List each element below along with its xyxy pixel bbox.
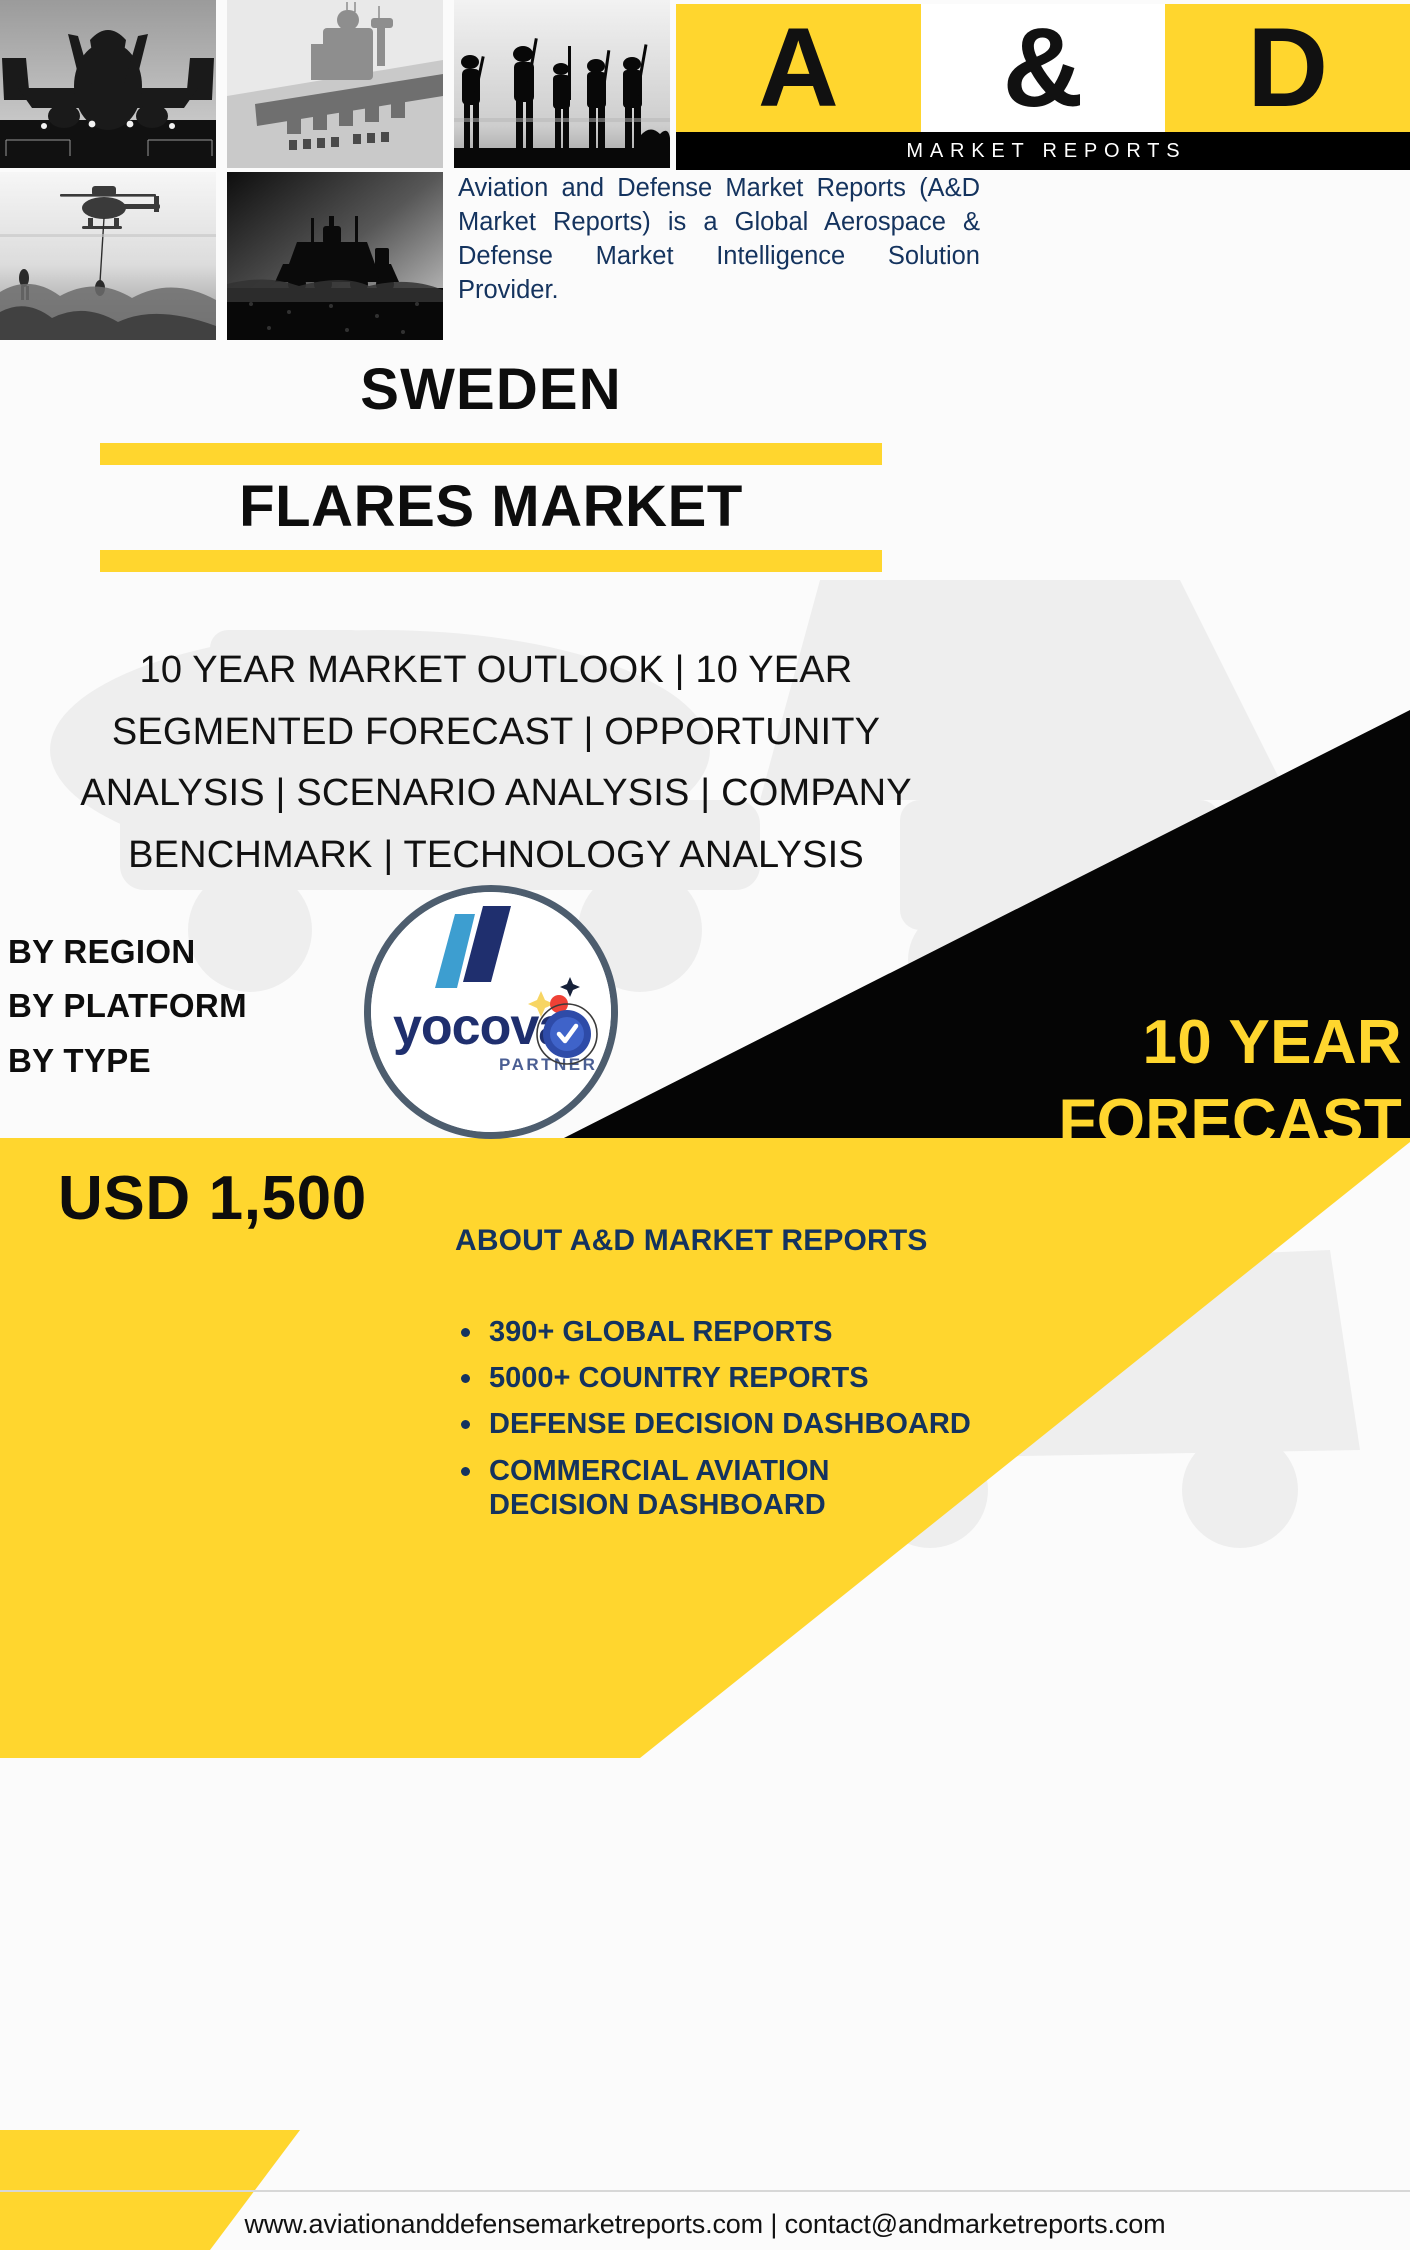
fighter-jet-on-carrier-photo: [0, 0, 216, 168]
logo-tagline: MARKET REPORTS: [676, 132, 1410, 170]
title-rule-top: [100, 443, 882, 465]
title-rule-bottom: [100, 550, 882, 572]
list-item: 5000+ COUNTRY REPORTS: [455, 1361, 975, 1395]
about-bullet-text: DEFENSE DECISION DASHBOARD: [489, 1408, 971, 1440]
svg-text:yocova: yocova: [393, 998, 568, 1056]
segmentation-list: BY REGION BY PLATFORM BY TYPE: [8, 925, 247, 1088]
segmentation-item-platform: BY PLATFORM: [8, 979, 247, 1033]
armored-vehicle-photo: [227, 172, 443, 340]
footer-contact: www.aviationanddefensemarketreports.com …: [0, 2209, 1410, 2240]
soldiers-silhouette-photo: [454, 0, 670, 168]
about-panel: ABOUT A&D MARKET REPORTS 390+ GLOBAL REP…: [455, 1224, 975, 1534]
report-title-block: SWEDEN FLARES MARKET: [0, 360, 982, 584]
forecast-line-2: FORECAST: [762, 1082, 1402, 1161]
about-heading: ABOUT A&D MARKET REPORTS: [455, 1224, 975, 1258]
company-logo: A & D MARKET REPORTS: [676, 4, 1410, 170]
bullet-dot-icon: [461, 1420, 470, 1429]
company-intro-paragraph: Aviation and Defense Market Reports (A&D…: [458, 172, 980, 308]
report-country: SWEDEN: [0, 360, 982, 431]
about-bullet-text: 5000+ COUNTRY REPORTS: [489, 1362, 869, 1394]
yocova-partner-badge: yocova PARTNER: [364, 885, 618, 1139]
footer-divider: [0, 2190, 1410, 2192]
naval-warship-photo: [227, 0, 443, 168]
segmentation-item-type: BY TYPE: [8, 1034, 247, 1088]
logo-letter-d: D: [1165, 4, 1410, 132]
logo-letter-a: A: [676, 4, 921, 132]
report-market-name: FLARES MARKET: [0, 477, 982, 538]
list-item: 390+ GLOBAL REPORTS: [455, 1315, 975, 1349]
helicopter-rappel-photo: [0, 172, 216, 340]
about-bullet-text: 390+ GLOBAL REPORTS: [489, 1316, 833, 1348]
about-bullet-list: 390+ GLOBAL REPORTS 5000+ COUNTRY REPORT…: [455, 1315, 975, 1522]
list-item: DEFENSE DECISION DASHBOARD: [455, 1407, 975, 1441]
ten-year-forecast-callout: 10 YEAR FORECAST: [762, 1003, 1402, 1162]
list-item: COMMERCIAL AVIATION DECISION DASHBOARD: [455, 1454, 975, 1522]
bullet-dot-icon: [461, 1467, 470, 1476]
bullet-dot-icon: [461, 1328, 470, 1337]
about-heading-underline: [455, 1267, 960, 1273]
report-scope-subtitle: 10 YEAR MARKET OUTLOOK | 10 YEAR SEGMENT…: [20, 640, 972, 886]
about-bullet-text: COMMERCIAL AVIATION DECISION DASHBOARD: [489, 1455, 829, 1521]
bullet-dot-icon: [461, 1374, 470, 1383]
price-value: USD 1,500: [58, 1163, 367, 1234]
segmentation-item-region: BY REGION: [8, 925, 247, 979]
verified-check-icon: [537, 1004, 597, 1064]
logo-letter-ampersand: &: [921, 4, 1166, 132]
forecast-line-1: 10 YEAR: [762, 1003, 1402, 1082]
logo-letter-row: A & D: [676, 4, 1410, 132]
